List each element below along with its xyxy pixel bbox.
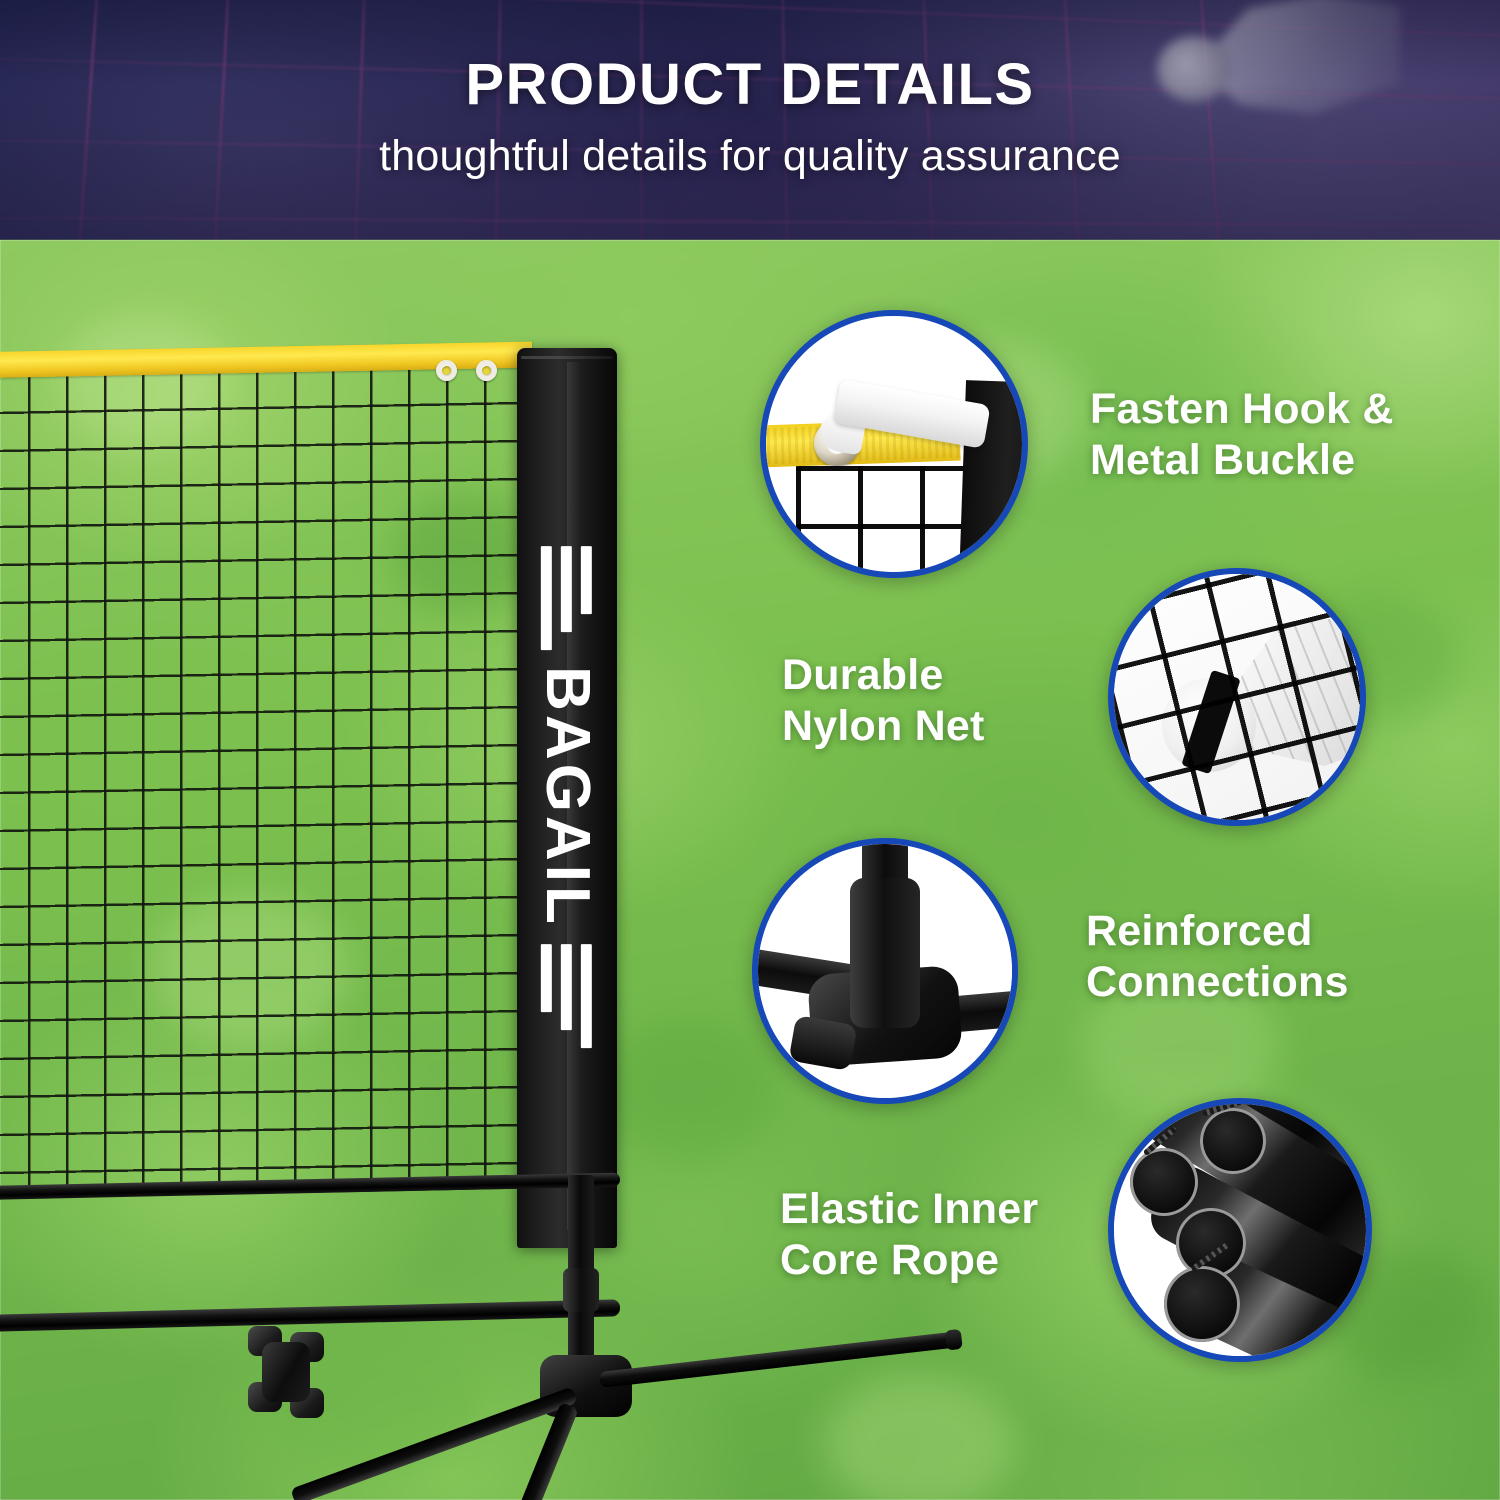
callout-image-nylon-net [1108,568,1366,826]
callout-image-reinforced-connections [752,838,1018,1104]
brand-name: BAGAIL [536,666,598,928]
feature-label-line1: Reinforced [1086,906,1349,957]
feature-label-line1: Elastic Inner [780,1184,1038,1235]
feature-label-line2: Metal Buckle [1090,435,1394,486]
portable-net-product: BAGAIL [0,352,640,1232]
feature-label-line1: Durable [782,650,984,701]
brand-bars-right-icon [542,944,593,1048]
product-details-infographic: PRODUCT DETAILS thoughtful details for q… [0,0,1500,1500]
feature-label-elastic-core-rope: Elastic Inner Core Rope [780,1184,1038,1285]
nylon-net-mesh [0,364,528,1192]
feature-label-fasten-hook: Fasten Hook & Metal Buckle [1090,384,1394,485]
feature-label-reinforced-connections: Reinforced Connections [1086,906,1349,1007]
callout-image-elastic-core-rope [1108,1098,1372,1362]
net-grommet-1 [436,360,457,381]
net-grommet-2 [476,360,497,381]
feature-label-nylon-net: Durable Nylon Net [782,650,984,751]
page-subtitle: thoughtful details for quality assurance [379,132,1121,181]
feature-label-line2: Nylon Net [782,701,984,752]
feature-label-line2: Core Rope [780,1235,1038,1286]
header-banner: PRODUCT DETAILS thoughtful details for q… [0,0,1500,240]
brand-logo: BAGAIL [517,552,617,1042]
brand-bars-left-icon [542,546,593,650]
feature-label-line2: Connections [1086,957,1349,1008]
page-title: PRODUCT DETAILS [465,56,1034,114]
callout-image-fasten-hook [760,310,1028,578]
feature-label-line1: Fasten Hook & [1090,384,1394,435]
